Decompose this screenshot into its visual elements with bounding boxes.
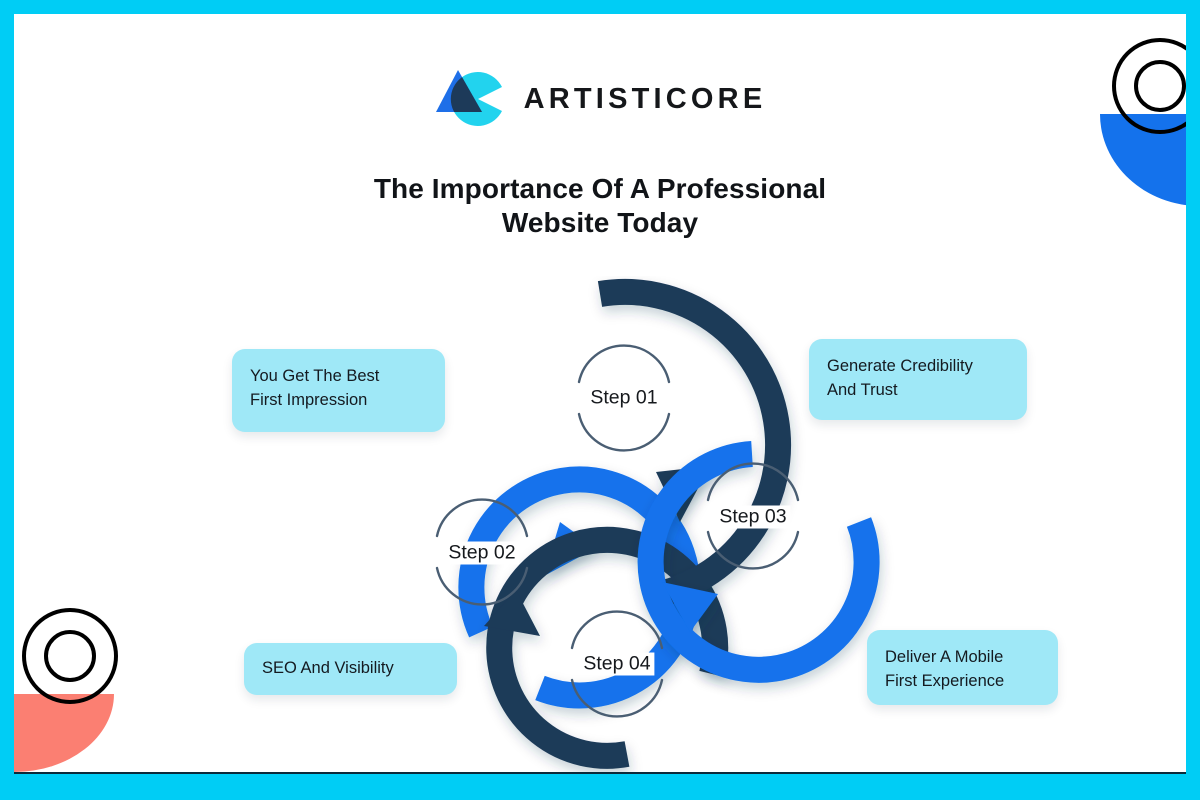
brand-name: ARTISTICORE <box>524 83 767 116</box>
concentric-circle-inner-bottom-icon <box>44 630 96 682</box>
artisticore-logo-icon <box>434 66 510 132</box>
step-01-label: Step 01 <box>586 387 661 410</box>
step-04-inner-ring-top <box>572 612 662 648</box>
coral-quarter-circle-decoration <box>14 694 114 772</box>
page-title: The Importance Of A Professional Website… <box>14 172 1186 240</box>
callout-credibility-line-2: And Trust <box>827 379 1009 403</box>
callout-first-impression-line-2: First Impression <box>250 389 427 413</box>
step-02-label: Step 02 <box>444 542 519 565</box>
callout-seo-line-1: SEO And Visibility <box>262 657 394 681</box>
callout-mobile-line-1: Deliver A Mobile <box>885 646 1040 670</box>
step-03-label: Step 03 <box>715 506 790 529</box>
brand-logo: ARTISTICORE <box>14 66 1186 132</box>
step-01-inner-ring-top <box>579 346 669 382</box>
callout-first-impression-line-1: You Get The Best <box>250 365 427 389</box>
callout-seo: SEO And Visibility <box>244 643 457 695</box>
step-04-label: Step 04 <box>579 653 654 676</box>
callout-mobile: Deliver A Mobile First Experience <box>867 630 1058 705</box>
callout-credibility-line-1: Generate Credibility <box>827 355 1009 379</box>
footer-divider <box>14 772 1186 774</box>
callout-mobile-line-2: First Experience <box>885 670 1040 694</box>
poster-canvas: ARTISTICORE The Importance Of A Professi… <box>14 14 1186 772</box>
page-title-line-1: The Importance Of A Professional <box>14 172 1186 206</box>
page-title-line-2: Website Today <box>14 206 1186 240</box>
callout-first-impression: You Get The Best First Impression <box>232 349 445 432</box>
callout-credibility: Generate Credibility And Trust <box>809 339 1027 420</box>
step-01-inner-ring-bottom <box>579 414 669 450</box>
